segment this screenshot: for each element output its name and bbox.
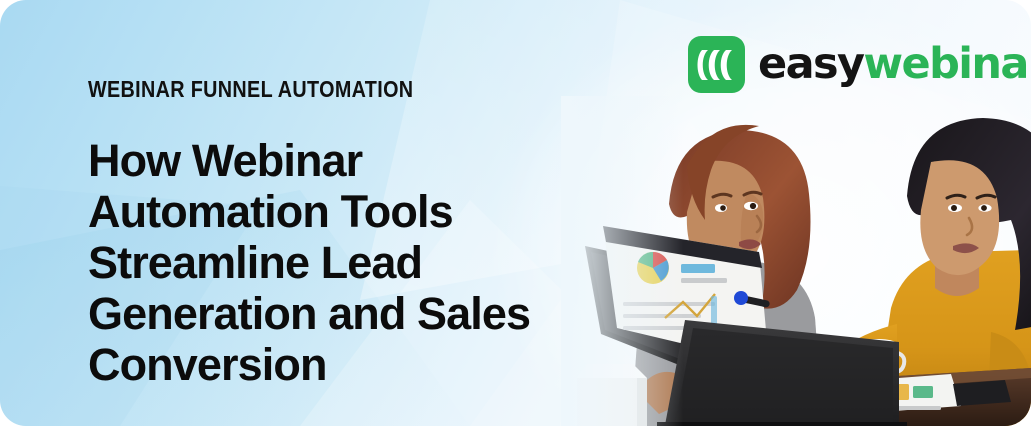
- headline-line: Conversion: [88, 339, 530, 390]
- headline-line: Streamline Lead: [88, 237, 530, 288]
- eyebrow-category: WEBINAR FUNNEL AUTOMATION: [88, 78, 468, 101]
- headline-line: How Webinar: [88, 135, 530, 186]
- logo-word-webinar: webinar: [863, 39, 1031, 89]
- hero-photo: [561, 96, 1031, 426]
- logo-wordmark: easywebinar: [758, 43, 1031, 86]
- headline-line: Generation and Sales: [88, 288, 530, 339]
- logo-word-easy: easy: [758, 39, 863, 89]
- hero-copy: WEBINAR FUNNEL AUTOMATION How Webinar Au…: [88, 78, 530, 390]
- page-title: How Webinar Automation Tools Streamline …: [88, 135, 530, 390]
- easywebinar-logo[interactable]: easywebinar: [688, 36, 1031, 93]
- webinar-hero-banner: easywebinar WEBINAR FUNNEL AUTOMATION Ho…: [0, 0, 1031, 426]
- headline-line: Automation Tools: [88, 186, 530, 237]
- broadcast-waves-icon: [688, 36, 745, 93]
